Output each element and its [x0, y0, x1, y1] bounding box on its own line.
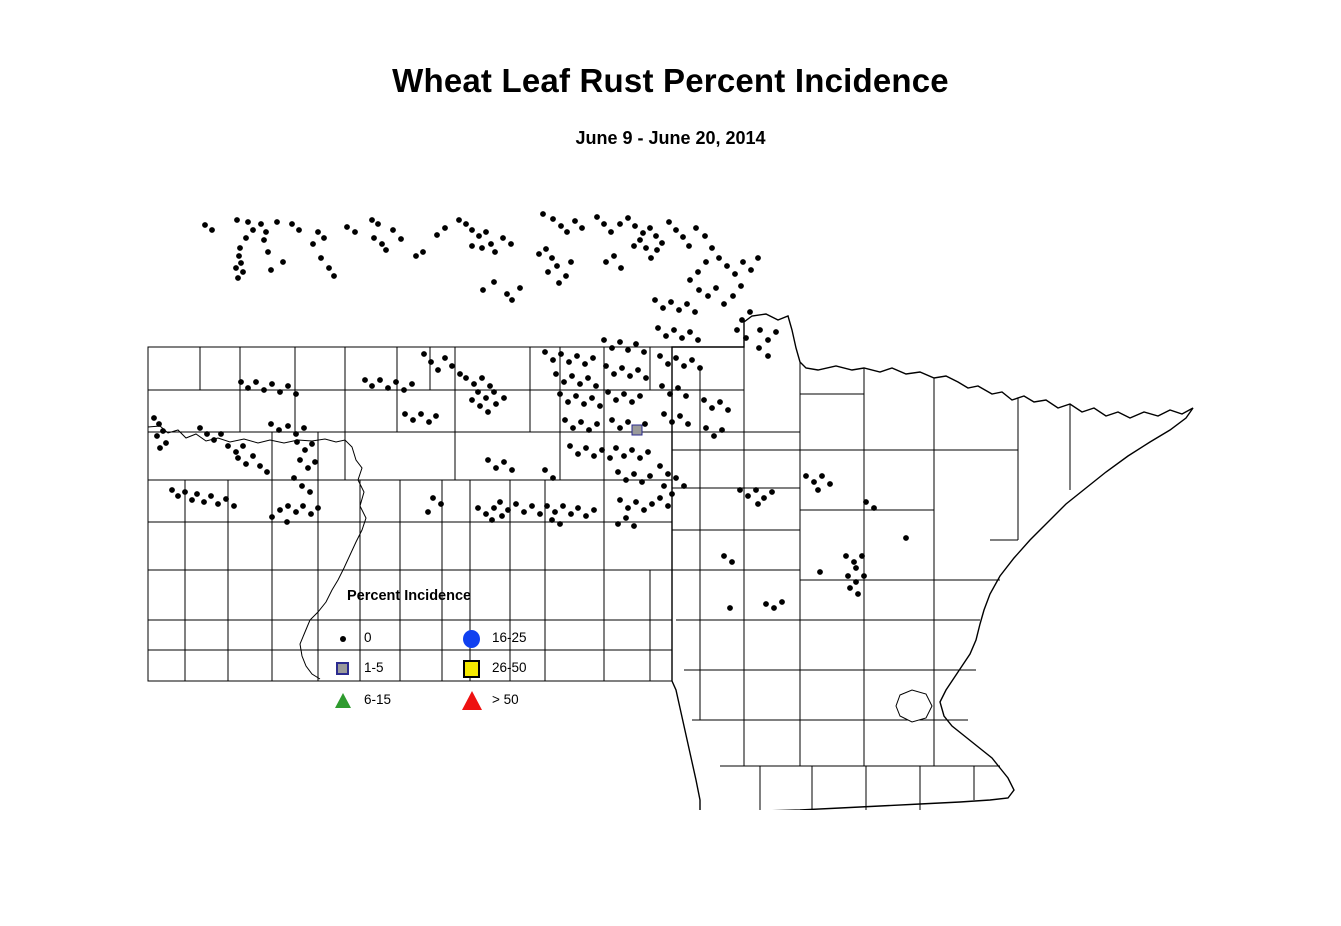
sample-point: [375, 221, 381, 227]
sample-point: [681, 363, 687, 369]
sample-point: [434, 232, 440, 238]
sample-point: [318, 255, 324, 261]
sample-point: [853, 579, 859, 585]
sample-point: [477, 403, 483, 409]
sample-point: [608, 229, 614, 235]
sample-point: [425, 509, 431, 515]
sample-point: [687, 277, 693, 283]
sample-point: [544, 503, 550, 509]
sample-point: [713, 285, 719, 291]
sample-point: [855, 591, 861, 597]
sample-point: [679, 335, 685, 341]
sample-point: [540, 211, 546, 217]
sample-point: [609, 417, 615, 423]
sample-point: [289, 221, 295, 227]
sample-point: [233, 449, 239, 455]
sample-point: [673, 227, 679, 233]
sample-point: [621, 391, 627, 397]
sample-point: [245, 219, 251, 225]
sample-point: [693, 225, 699, 231]
sample-point: [572, 218, 578, 224]
map-canvas[interactable]: [0, 150, 1341, 810]
sample-point: [223, 496, 229, 502]
legend-label-3: 16-25: [492, 630, 527, 645]
sample-point: [668, 299, 674, 305]
sample-point: [469, 397, 475, 403]
sample-point: [352, 229, 358, 235]
sample-point: [201, 499, 207, 505]
sample-point: [435, 367, 441, 373]
sample-point: [566, 359, 572, 365]
sample-point: [573, 393, 579, 399]
sample-point: [483, 395, 489, 401]
sample-point: [597, 403, 603, 409]
sample-point: [613, 445, 619, 451]
sample-point: [480, 287, 486, 293]
sample-point: [567, 443, 573, 449]
sample-point: [234, 217, 240, 223]
sample-point: [550, 216, 556, 222]
sample-point: [669, 419, 675, 425]
sample-point: [695, 269, 701, 275]
sample-point: [564, 229, 570, 235]
sample-point: [277, 389, 283, 395]
sample-point: [635, 367, 641, 373]
sample-point: [641, 349, 647, 355]
minnesota-counties: [672, 314, 1193, 810]
sample-point: [268, 267, 274, 273]
sample-point: [859, 553, 865, 559]
sample-point: [326, 265, 332, 271]
sample-point: [740, 259, 746, 265]
legend-label-4: 26-50: [492, 660, 527, 675]
sample-point: [665, 503, 671, 509]
sample-point: [853, 565, 859, 571]
sample-point: [585, 375, 591, 381]
sample-point: [250, 453, 256, 459]
sample-point: [291, 475, 297, 481]
sample-point: [211, 437, 217, 443]
sample-point: [430, 495, 436, 501]
sample-point: [253, 379, 259, 385]
sample-point: [661, 411, 667, 417]
sample-point: [377, 377, 383, 383]
sample-point: [225, 443, 231, 449]
sample-point: [463, 221, 469, 227]
sample-point: [493, 401, 499, 407]
sample-point: [402, 411, 408, 417]
sample-point: [811, 479, 817, 485]
sample-point: [362, 377, 368, 383]
sample-point: [209, 227, 215, 233]
sample-point: [763, 601, 769, 607]
sample-point: [442, 225, 448, 231]
sample-point: [575, 451, 581, 457]
sample-point: [709, 405, 715, 411]
sample-point: [569, 373, 575, 379]
sample-point: [640, 230, 646, 236]
sample-point: [692, 309, 698, 315]
sample-point: [721, 301, 727, 307]
sample-point: [657, 495, 663, 501]
sample-point: [847, 585, 853, 591]
sample-point: [756, 345, 762, 351]
sample-point: [208, 493, 214, 499]
sample-point: [601, 221, 607, 227]
sample-point: [383, 247, 389, 253]
sample-point: [505, 507, 511, 513]
sample-point: [491, 389, 497, 395]
sample-point: [261, 387, 267, 393]
sample-point: [621, 453, 627, 459]
sample-point: [615, 521, 621, 527]
sample-point: [294, 439, 300, 445]
sample-point: [175, 493, 181, 499]
sample-point: [601, 337, 607, 343]
sample-point: [661, 483, 667, 489]
sample-point: [557, 391, 563, 397]
sample-point: [703, 425, 709, 431]
sample-point: [605, 389, 611, 395]
sample-point: [725, 407, 731, 413]
sample-point: [625, 347, 631, 353]
legend-swatch-yellow-square-icon: [462, 658, 486, 680]
sample-point: [236, 253, 242, 259]
sample-point: [284, 519, 290, 525]
sample-point: [500, 235, 506, 241]
sample-point: [581, 401, 587, 407]
sample-point: [258, 221, 264, 227]
sample-point: [413, 253, 419, 259]
sample-point: [618, 265, 624, 271]
sample-point: [549, 517, 555, 523]
map-legend: Percent Incidence 0 1-5 6-15 16-25 26-50…: [330, 580, 580, 720]
mille-lacs-lake: [896, 690, 932, 722]
sample-point: [851, 559, 857, 565]
sample-point: [632, 223, 638, 229]
sample-point: [476, 233, 482, 239]
sample-point: [623, 515, 629, 521]
sample-point: [637, 393, 643, 399]
sample-point: [611, 253, 617, 259]
sample-point: [779, 599, 785, 605]
sample-point: [293, 391, 299, 397]
sample-point: [583, 445, 589, 451]
sample-point: [235, 275, 241, 281]
sample-point: [657, 463, 663, 469]
sample-point: [671, 327, 677, 333]
sample-point: [652, 297, 658, 303]
sample-point: [265, 249, 271, 255]
sample-point: [479, 375, 485, 381]
sample-point: [268, 421, 274, 427]
sample-point: [488, 241, 494, 247]
sample-point: [293, 431, 299, 437]
sample-point: [182, 489, 188, 495]
sample-point: [420, 249, 426, 255]
sample-point: [401, 387, 407, 393]
map-svg[interactable]: [0, 150, 1341, 810]
sample-point: [315, 229, 321, 235]
sample-point: [665, 471, 671, 477]
sample-point: [871, 505, 877, 511]
sample-point: [568, 259, 574, 265]
sample-point: [590, 355, 596, 361]
sample-point: [653, 233, 659, 239]
legend-swatch-blue-circle-icon: [462, 628, 486, 650]
sample-point: [617, 497, 623, 503]
sample-point: [237, 245, 243, 251]
sample-point: [280, 259, 286, 265]
sample-point: [647, 473, 653, 479]
sample-point: [421, 351, 427, 357]
sample-point: [632, 425, 642, 435]
sample-point: [629, 399, 635, 405]
sample-point: [765, 337, 771, 343]
sample-point: [660, 305, 666, 311]
sample-point: [773, 329, 779, 335]
sample-point: [529, 503, 535, 509]
sample-point: [705, 293, 711, 299]
sample-point: [861, 573, 867, 579]
sample-point: [385, 385, 391, 391]
sample-point: [428, 359, 434, 365]
sample-point: [734, 327, 740, 333]
sample-point: [513, 501, 519, 507]
sample-point: [642, 421, 648, 427]
sample-point: [625, 419, 631, 425]
sample-point: [676, 307, 682, 313]
sample-point: [215, 501, 221, 507]
sample-point: [655, 325, 661, 331]
sample-point: [307, 489, 313, 495]
sample-point: [684, 301, 690, 307]
sample-point: [300, 503, 306, 509]
sample-point: [231, 503, 237, 509]
sample-point: [499, 513, 505, 519]
sample-point: [565, 399, 571, 405]
sample-point: [803, 473, 809, 479]
sample-point: [274, 219, 280, 225]
sample-point: [563, 273, 569, 279]
sample-point: [493, 465, 499, 471]
sample-point: [463, 375, 469, 381]
sample-point: [617, 425, 623, 431]
legend-label-5: > 50: [492, 692, 519, 707]
sample-point: [631, 243, 637, 249]
sample-point: [654, 247, 660, 253]
sample-point: [721, 553, 727, 559]
sample-point: [613, 397, 619, 403]
sample-point: [293, 509, 299, 515]
sample-point: [827, 481, 833, 487]
sample-point: [250, 227, 256, 233]
sample-point: [509, 467, 515, 473]
sample-point: [542, 467, 548, 473]
sample-point: [475, 505, 481, 511]
sample-point: [204, 431, 210, 437]
sample-point: [264, 469, 270, 475]
sample-point: [761, 495, 767, 501]
sample-point: [615, 469, 621, 475]
sample-point: [594, 421, 600, 427]
sample-point: [703, 259, 709, 265]
sample-point: [568, 511, 574, 517]
sample-point: [310, 241, 316, 247]
sample-point: [637, 455, 643, 461]
sample-point: [591, 453, 597, 459]
sample-point: [301, 425, 307, 431]
sample-point: [681, 483, 687, 489]
sample-point: [641, 507, 647, 513]
legend-label-2: 6-15: [364, 692, 391, 707]
sample-point: [263, 229, 269, 235]
sample-point: [757, 327, 763, 333]
sample-point: [285, 423, 291, 429]
sample-point: [308, 511, 314, 517]
sample-point: [724, 263, 730, 269]
sample-point: [675, 385, 681, 391]
sample-point: [442, 355, 448, 361]
sample-point: [508, 241, 514, 247]
sample-point: [309, 441, 315, 447]
sample-point: [677, 413, 683, 419]
sample-point: [553, 371, 559, 377]
sample-point: [390, 227, 396, 233]
sample-point: [517, 285, 523, 291]
minnesota-outline: [672, 314, 1193, 810]
sample-point: [599, 447, 605, 453]
sample-point: [748, 267, 754, 273]
sample-point: [552, 509, 558, 515]
sample-point: [686, 243, 692, 249]
sample-point: [863, 499, 869, 505]
sample-point: [702, 233, 708, 239]
sample-point: [727, 605, 733, 611]
sample-point: [697, 365, 703, 371]
sample-point: [483, 511, 489, 517]
sample-point: [561, 379, 567, 385]
sample-point: [369, 383, 375, 389]
sample-point: [240, 443, 246, 449]
sample-point: [663, 333, 669, 339]
sample-point: [637, 237, 643, 243]
sample-point: [579, 225, 585, 231]
legend-swatch-red-triangle-icon: [462, 690, 486, 712]
sample-point: [151, 415, 157, 421]
sample-point: [305, 465, 311, 471]
sample-point: [673, 355, 679, 361]
sample-point: [240, 269, 246, 275]
sample-point: [469, 243, 475, 249]
legend-label-0: 0: [364, 630, 372, 645]
sample-point: [238, 260, 244, 266]
sample-point: [456, 217, 462, 223]
sample-point: [542, 349, 548, 355]
legend-swatch-black-dot-icon: [334, 628, 358, 650]
sample-point: [645, 449, 651, 455]
sample-point: [369, 217, 375, 223]
sample-point: [603, 259, 609, 265]
sample-point: [299, 483, 305, 489]
sample-point: [603, 363, 609, 369]
sample-point: [194, 491, 200, 497]
sample-point: [379, 241, 385, 247]
sample-point: [485, 409, 491, 415]
sample-point: [277, 507, 283, 513]
sample-point: [695, 337, 701, 343]
sample-point: [903, 535, 909, 541]
sample-point: [550, 475, 556, 481]
sample-point: [582, 361, 588, 367]
sample-point: [157, 445, 163, 451]
sample-point: [577, 381, 583, 387]
sample-point: [685, 421, 691, 427]
sample-point: [545, 269, 551, 275]
sample-point: [738, 283, 744, 289]
sample-point: [257, 463, 263, 469]
sample-point: [631, 523, 637, 529]
sample-point: [609, 345, 615, 351]
sample-point: [633, 341, 639, 347]
sample-point: [469, 227, 475, 233]
sample-point: [745, 493, 751, 499]
sample-point: [285, 383, 291, 389]
sample-point: [647, 225, 653, 231]
sample-point: [625, 505, 631, 511]
sample-point: [245, 385, 251, 391]
sample-point: [589, 395, 595, 401]
sample-point: [471, 381, 477, 387]
sample-point: [730, 293, 736, 299]
sample-point: [643, 245, 649, 251]
sample-point: [631, 471, 637, 477]
sample-point: [487, 383, 493, 389]
sample-point: [302, 447, 308, 453]
sample-point: [492, 249, 498, 255]
sample-point: [296, 227, 302, 233]
page-subtitle: June 9 - June 20, 2014: [0, 128, 1341, 149]
sample-point: [243, 235, 249, 241]
sample-point: [556, 280, 562, 286]
legend-title: Percent Incidence: [347, 588, 471, 604]
sample-point: [449, 363, 455, 369]
sample-point: [536, 251, 542, 257]
sample-point: [649, 501, 655, 507]
sample-point: [218, 431, 224, 437]
sample-point: [716, 255, 722, 261]
sample-point: [617, 339, 623, 345]
sample-point: [562, 417, 568, 423]
sample-point: [169, 487, 175, 493]
sample-point: [457, 371, 463, 377]
sample-point: [701, 397, 707, 403]
page-title: Wheat Leaf Rust Percent Incidence: [0, 62, 1341, 100]
sample-point: [765, 353, 771, 359]
sample-point: [276, 427, 282, 433]
sample-point: [643, 375, 649, 381]
sample-point: [629, 447, 635, 453]
sample-point: [160, 428, 166, 434]
sample-point: [197, 425, 203, 431]
sample-point: [696, 287, 702, 293]
sample-point: [815, 487, 821, 493]
sample-point: [438, 501, 444, 507]
sample-point: [680, 234, 686, 240]
sample-point: [521, 509, 527, 515]
sample-point: [269, 514, 275, 520]
sample-point: [657, 353, 663, 359]
